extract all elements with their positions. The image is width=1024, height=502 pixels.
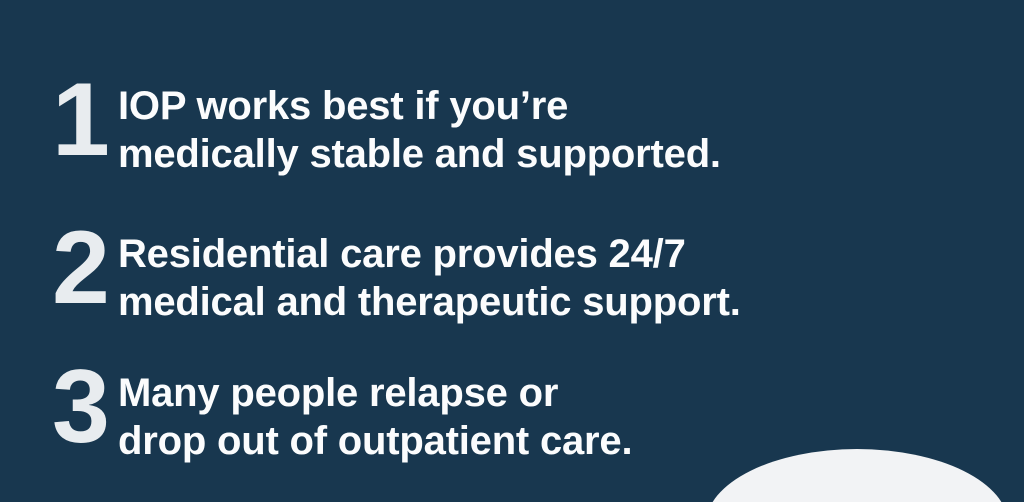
list-item: 2 Residential care provides 24/7 medical… bbox=[52, 210, 741, 326]
point-text-line: drop out of outpatient care. bbox=[118, 417, 632, 465]
point-text-line: Many people relapse or bbox=[118, 369, 632, 417]
point-number: 2 bbox=[52, 218, 118, 318]
point-text-line: Residential care provides 24/7 bbox=[118, 230, 741, 278]
list-item: 3 Many people relapse or drop out of out… bbox=[52, 349, 632, 465]
point-number: 3 bbox=[52, 357, 118, 457]
point-text-line: medical and therapeutic support. bbox=[118, 278, 741, 326]
point-text-line: IOP works best if you’re bbox=[118, 82, 721, 130]
point-number: 1 bbox=[52, 70, 118, 170]
slide-canvas: 1 IOP works best if you’re medically sta… bbox=[0, 0, 1024, 502]
point-text: IOP works best if you’re medically stabl… bbox=[118, 62, 721, 178]
point-text: Residential care provides 24/7 medical a… bbox=[118, 210, 741, 326]
point-text-line: medically stable and supported. bbox=[118, 130, 721, 178]
list-item: 1 IOP works best if you’re medically sta… bbox=[52, 62, 721, 178]
numbered-points-list: 1 IOP works best if you’re medically sta… bbox=[0, 0, 1024, 502]
point-text: Many people relapse or drop out of outpa… bbox=[118, 349, 632, 465]
